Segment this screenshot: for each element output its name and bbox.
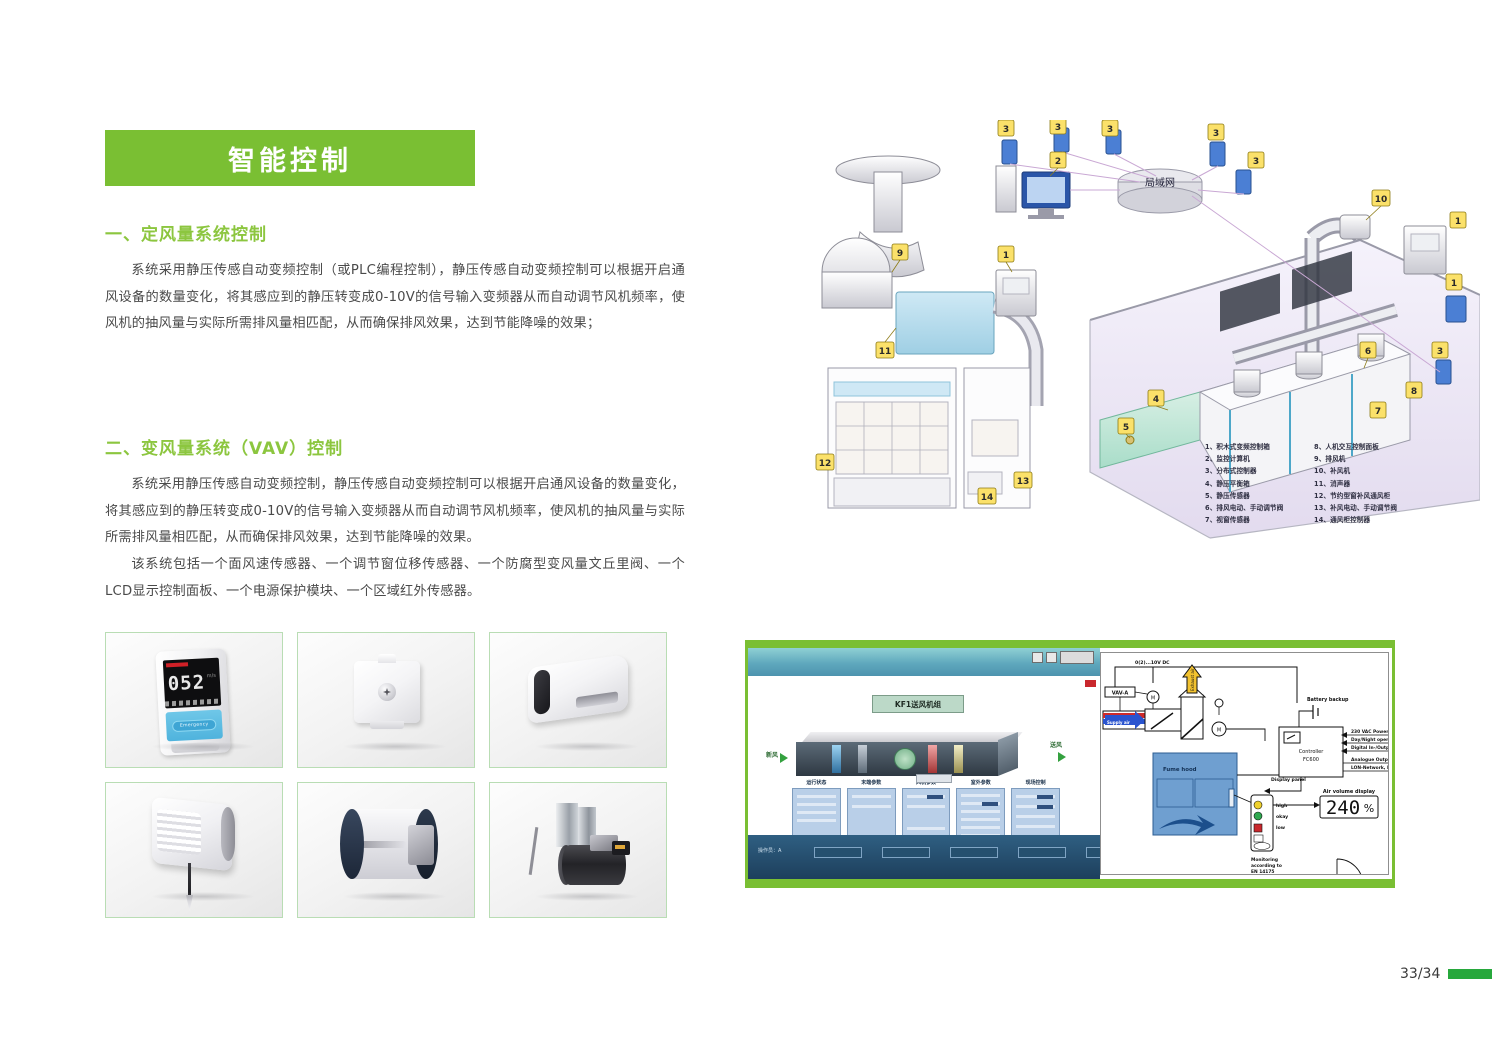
svg-text:8: 8 xyxy=(1411,387,1417,397)
face-velocity-sensor-device xyxy=(152,801,232,867)
section-2-paragraph-1: 系统采用静压传感自动变频控制，静压传感自动变频控制可以根据开启通风设备的数量变化… xyxy=(105,472,685,552)
panel-header: 现场控制 xyxy=(1012,779,1059,788)
callout-3c: 3 xyxy=(1102,120,1118,136)
photo-shadow xyxy=(536,742,638,751)
legend-item-13: 13、补风电动、手动调节阀 xyxy=(1314,502,1459,512)
svg-text:3: 3 xyxy=(1213,129,1219,139)
exhaust-stack: Exhaust air M xyxy=(1179,665,1265,741)
legend-item-1: 1、积木式变频控制箱 xyxy=(1205,441,1310,451)
fume-hood-control-schematic: 0(2)...10V DC VAV-A M Supply air xyxy=(1100,652,1389,875)
signal-label: 0(2)...10V DC xyxy=(1135,660,1170,666)
venturi-valve-device xyxy=(338,809,438,879)
emergency-button[interactable]: Emergency xyxy=(172,719,217,732)
callout-1c: 1 xyxy=(1446,274,1462,290)
toolbar-icon-1[interactable] xyxy=(1032,652,1043,663)
toolbar-readout xyxy=(1060,651,1094,664)
svg-text:1: 1 xyxy=(1003,251,1009,261)
controller-model: FC600 xyxy=(1303,757,1319,763)
valve-actuator xyxy=(408,825,434,865)
legend-item-2: 2、监控计算机 xyxy=(1205,453,1310,463)
lan-hub: 局域网 xyxy=(1118,169,1202,213)
ahu-cooling-coil xyxy=(954,745,963,773)
photo-shadow xyxy=(152,892,254,901)
svg-text:according to: according to xyxy=(1251,863,1282,869)
hmi-toolbar xyxy=(1032,651,1094,664)
ahu-side-face xyxy=(998,732,1018,776)
callout-1a: 1 xyxy=(998,246,1014,262)
monitoring-computer xyxy=(996,166,1070,219)
photo-shadow xyxy=(344,892,446,901)
svg-text:11: 11 xyxy=(879,347,892,357)
legend-item-14: 14、通风柜控制器 xyxy=(1314,514,1459,524)
legend-item-8: 8、人机交互控制面板 xyxy=(1314,441,1459,451)
svg-text:10: 10 xyxy=(1375,195,1388,205)
area-infrared-sensor-device xyxy=(528,654,628,724)
svg-text:3: 3 xyxy=(1055,123,1061,133)
section-fixed-air-volume: 一、定风量系统控制 系统采用静压传感自动变频控制（或PLC编程控制），静压传感自… xyxy=(105,220,685,338)
wall-mounted-sensor-device xyxy=(354,661,420,723)
product-photo-venturi-valve xyxy=(297,782,475,918)
status-light-okay-icon xyxy=(1254,812,1262,820)
brochure-page: 智能控制 一、定风量系统控制 系统采用静压传感自动变频控制（或PLC编程控制），… xyxy=(0,0,1500,1061)
callout-3b: 3 xyxy=(1050,120,1066,134)
callout-5: 5 xyxy=(1118,418,1134,434)
callout-8: 8 xyxy=(1406,382,1422,398)
page-title: 智能控制 xyxy=(228,139,352,178)
svg-text:M: M xyxy=(1151,696,1155,702)
inlet-label: 新风 xyxy=(766,750,778,759)
infrared-lens xyxy=(534,669,550,715)
section-2-heading: 二、变风量系统（VAV）控制 xyxy=(105,434,685,459)
sash-sensor xyxy=(1229,789,1234,807)
legend-item-11: 11、消声器 xyxy=(1314,478,1459,488)
output-lon-network: LON-Network, FTT-10A xyxy=(1351,765,1389,771)
controller-label: Controller xyxy=(1299,749,1325,755)
nav-tab-alarms[interactable] xyxy=(950,847,998,858)
air-volume-display: Air volume display 240 % xyxy=(1273,789,1378,819)
svg-text:4: 4 xyxy=(1153,395,1159,405)
legend-item-6: 6、排风电动、手动调节阀 xyxy=(1205,502,1310,512)
hmi-body: KF1送风机组 新风 送风 xyxy=(748,676,1100,835)
section-vav: 二、变风量系统（VAV）控制 系统采用静压传感自动变频控制，静压传感自动变频控制… xyxy=(105,434,685,605)
product-photo-lcd-control-panel: 052 m/s Emergency xyxy=(105,632,283,768)
valve-seal-left xyxy=(340,809,364,879)
callout-3e: 3 xyxy=(1248,152,1264,168)
display-panel: Display panel high okay low Monitoring a… xyxy=(1251,777,1306,875)
nav-tab-trends[interactable] xyxy=(1018,847,1066,858)
display-panel-label: Display panel xyxy=(1271,777,1306,783)
valve-blade xyxy=(360,841,406,848)
svg-text:13: 13 xyxy=(1017,477,1030,487)
page-footer: 33/34 xyxy=(1400,966,1492,982)
page-number: 33/34 xyxy=(1400,966,1440,982)
photo-shadow xyxy=(344,742,446,751)
callout-10: 10 xyxy=(1372,190,1390,206)
ahu-filter-1 xyxy=(832,745,841,773)
status-light-high-icon xyxy=(1254,801,1262,809)
scada-screenshot: KF1送风机组 新风 送风 xyxy=(745,640,1395,888)
svg-text:M: M xyxy=(1217,728,1221,734)
svg-text:9: 9 xyxy=(897,249,903,259)
svg-text:2: 2 xyxy=(1055,157,1061,167)
sensor-rosette-icon xyxy=(378,683,396,701)
product-photo-grid: 052 m/s Emergency xyxy=(105,632,667,918)
lcd-unit: m/s xyxy=(207,673,216,679)
section-2-paragraph-2: 该系统包括一个面风速传感器、一个调节窗位移传感器、一个防腐型变风量文丘里阀、一个… xyxy=(105,552,685,605)
panel-header: 室外参数 xyxy=(957,779,1004,788)
callout-3f: 3 xyxy=(1432,342,1448,358)
panel-header: 末端参数 xyxy=(848,779,895,788)
output-analogue: Analogue Outputs xyxy=(1351,757,1389,763)
svg-text:5: 5 xyxy=(1123,423,1129,433)
sensor-bottom-tab xyxy=(370,721,404,729)
photo-shadow xyxy=(536,892,638,901)
product-photo-wall-mounted-sensor xyxy=(297,632,475,768)
callout-12: 12 xyxy=(816,454,834,470)
legend-item-4: 4、静压平衡箱 xyxy=(1205,478,1310,488)
toolbar-icon-2[interactable] xyxy=(1046,652,1057,663)
input-230vac: 230 VAC Power xyxy=(1351,729,1389,735)
svg-text:%: % xyxy=(1364,802,1374,815)
exhaust-fan-unit xyxy=(822,156,940,308)
ahu-heating-coil xyxy=(928,745,937,773)
legend-item-12: 12、节约型窗补风通风柜 xyxy=(1314,490,1459,500)
operator-status: 操作员：A xyxy=(758,847,781,854)
svg-text:3: 3 xyxy=(1107,125,1113,135)
svg-text:EN 14175: EN 14175 xyxy=(1251,869,1274,875)
callout-3d: 3 xyxy=(1208,124,1224,140)
callout-2: 2 xyxy=(1050,152,1066,168)
ahu-fan-icon xyxy=(894,748,916,770)
page-footer-bar xyxy=(1448,969,1492,979)
ahu-unit-title: KF1送风机组 xyxy=(872,695,964,713)
input-daynight: Day/Night operation xyxy=(1351,737,1389,743)
hmi-center-button[interactable] xyxy=(916,774,952,783)
legend-item-7: 7、视窗传感器 xyxy=(1205,514,1310,524)
hmi-status-bar: 操作员：A xyxy=(748,835,1100,879)
svg-text:14: 14 xyxy=(981,493,994,503)
callout-3a: 3 xyxy=(998,120,1014,136)
alarm-badge xyxy=(1085,680,1096,687)
svg-text:3: 3 xyxy=(1437,347,1443,357)
panel-header: 运行状态 xyxy=(793,779,840,788)
nav-tab-main[interactable] xyxy=(814,847,862,858)
svg-text:6: 6 xyxy=(1365,347,1371,357)
callout-9: 9 xyxy=(892,244,908,260)
lcd-control-panel-device: 052 m/s Emergency xyxy=(155,648,230,756)
callout-1b: 1 xyxy=(1450,212,1466,228)
left-text-column: 智能控制 一、定风量系统控制 系统采用静压传感自动变频控制（或PLC编程控制），… xyxy=(105,130,685,605)
product-photo-damper-motor-assembly xyxy=(489,782,667,918)
svg-text:3: 3 xyxy=(1003,125,1009,135)
ahu-unit-title-label: KF1送风机组 xyxy=(895,699,941,710)
mounting-arm xyxy=(529,827,539,875)
brand-stripe xyxy=(166,662,188,667)
svg-text:12: 12 xyxy=(819,459,832,469)
product-photo-face-velocity-sensor xyxy=(105,782,283,918)
page-title-banner: 智能控制 xyxy=(105,130,475,186)
air-volume-caption: Air volume display xyxy=(1323,789,1376,795)
section-1-heading: 一、定风量系统控制 xyxy=(105,220,685,245)
legend-item-10: 10、补风机 xyxy=(1314,465,1459,475)
status-label-okay: okay xyxy=(1276,814,1288,820)
svg-text:3: 3 xyxy=(1253,157,1259,167)
air-volume-value: 240 xyxy=(1326,797,1360,819)
fume-hood-elevation-drawings xyxy=(828,368,1030,508)
inlet-arrow-icon xyxy=(780,753,788,763)
ahu-hmi-panel: KF1送风机组 新风 送风 xyxy=(748,648,1100,879)
callout-7: 7 xyxy=(1370,402,1386,418)
product-photo-area-infrared-sensor xyxy=(489,632,667,768)
status-light-low-icon xyxy=(1254,824,1262,832)
ahu-filter-2 xyxy=(858,745,867,773)
callout-13: 13 xyxy=(1014,472,1032,488)
ahu-unit-graphic xyxy=(796,732,1026,778)
damper-motor-assembly-device xyxy=(522,801,638,893)
fume-hood-label: Fume hood xyxy=(1163,767,1197,773)
callout-11: 11 xyxy=(876,342,894,358)
keypad: Emergency xyxy=(166,710,223,742)
callout-4: 4 xyxy=(1148,390,1164,406)
schematic-svg: 0(2)...10V DC VAV-A M Supply air xyxy=(1101,653,1389,875)
legend-item-5: 5、静压传感器 xyxy=(1205,490,1310,500)
svg-text:7: 7 xyxy=(1375,407,1381,417)
legend-item-3: 3、分布式控制器 xyxy=(1205,465,1310,475)
section-1-body: 系统采用静压传感自动变频控制（或PLC编程控制），静压传感自动变频控制可以根据开… xyxy=(105,258,685,338)
status-label-low: low xyxy=(1276,825,1286,831)
outlet-arrow-icon xyxy=(1058,752,1066,762)
section-1-paragraph-1: 系统采用静压传感自动变频控制（或PLC编程控制），静压传感自动变频控制可以根据开… xyxy=(105,258,685,338)
hmi-nav-tabs xyxy=(814,847,1134,858)
duct-segment-1 xyxy=(556,803,578,847)
svg-text:1: 1 xyxy=(1455,217,1461,227)
hmi-title-bar xyxy=(748,648,1100,676)
photo-shadow xyxy=(152,742,254,751)
sensor-fins xyxy=(157,809,201,856)
callout-6: 6 xyxy=(1360,342,1376,358)
legend-item-9: 9、排风机 xyxy=(1314,453,1459,463)
exhaust-air-label: Exhaust air xyxy=(1190,668,1195,691)
iso-legend: 1、积木式变频控制箱 8、人机交互控制面板 2、监控计算机 9、排风机 3、分布… xyxy=(1205,441,1455,524)
vav-label: VAV-A xyxy=(1112,691,1129,697)
svg-text:Monitoring: Monitoring xyxy=(1251,857,1278,863)
lcd-value: 052 xyxy=(167,671,205,695)
battery-backup-label: Battery backup xyxy=(1307,697,1349,703)
door-symbol xyxy=(1337,859,1363,875)
supply-air-label: Supply air xyxy=(1107,720,1130,725)
sensor-end-cap xyxy=(221,806,235,861)
nav-tab-parameters[interactable] xyxy=(882,847,930,858)
input-digital-io: Digital In-/Outputs xyxy=(1351,745,1389,751)
section-2-body: 系统采用静压传感自动变频控制，静压传感自动变频控制可以根据开启通风设备的数量变化… xyxy=(105,472,685,605)
svg-text:1: 1 xyxy=(1451,279,1457,289)
callout-14: 14 xyxy=(978,488,996,504)
status-label-high: high xyxy=(1276,803,1287,809)
damper-controller xyxy=(612,841,630,855)
outlet-label: 送风 xyxy=(1050,740,1062,749)
sensor-top-tab xyxy=(378,654,396,663)
